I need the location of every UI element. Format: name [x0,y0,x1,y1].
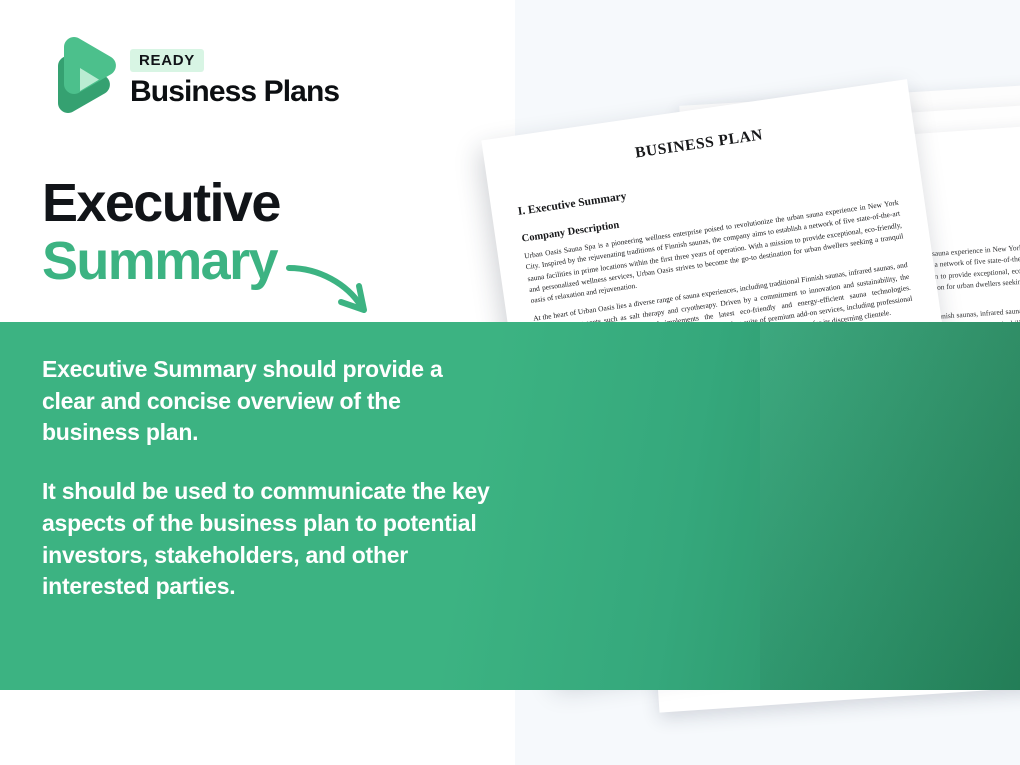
callout-paragraph-2: It should be used to communicate the key… [42,476,497,603]
curved-arrow-icon [285,258,385,328]
ready-badge: READY [130,49,204,72]
callout-text-block: Executive Summary should provide a clear… [42,354,497,603]
play-triangle-logo-icon [42,34,116,120]
callout-paragraph-1: Executive Summary should provide a clear… [42,354,497,449]
brand-logo-text: READY Business Plans [130,45,339,109]
page-title: Executive Summary [42,176,280,288]
page-title-line-2: Summary [42,234,280,288]
brand-name: Business Plans [130,76,339,108]
slide-canvas: BUSINESS PLAN I. Executive Summary Compa… [0,0,1020,765]
brand-logo[interactable]: READY Business Plans [42,34,339,120]
page-title-line-1: Executive [42,176,280,230]
